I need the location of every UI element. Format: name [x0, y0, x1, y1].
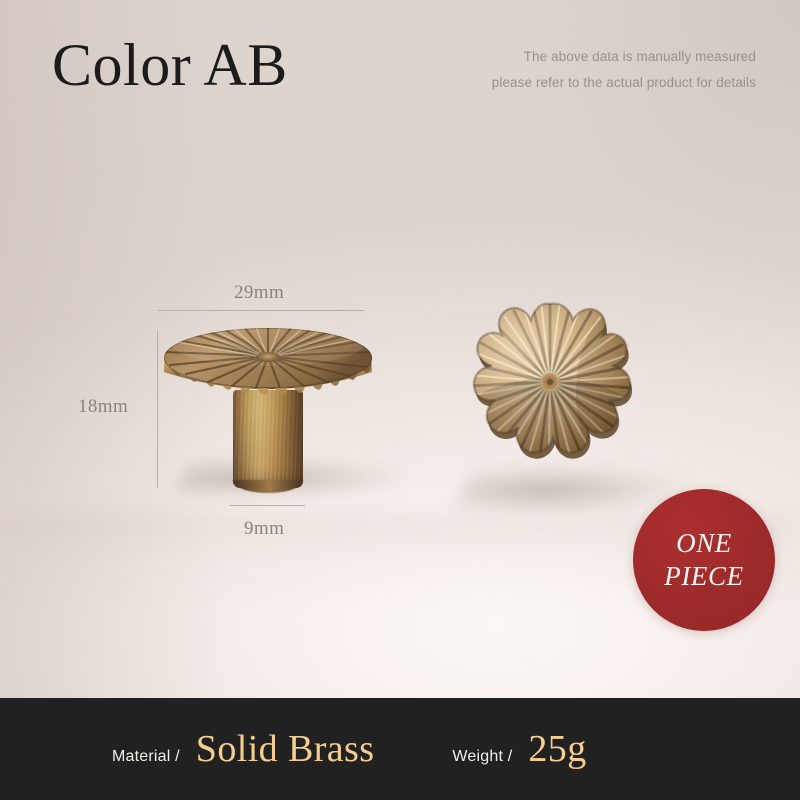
spec-weight: Weight / 25g	[452, 727, 586, 771]
knob-side-center-hub	[256, 352, 280, 362]
height-guide-line	[157, 330, 158, 488]
knob-side-flange	[160, 312, 376, 404]
disclaimer-line-2: please refer to the actual product for d…	[426, 70, 756, 96]
knob-face-center-dot	[547, 379, 553, 385]
one-piece-badge: ONE PIECE	[633, 489, 775, 631]
product-image: Color AB The above data is manually meas…	[0, 0, 800, 800]
disclaimer-line-1: The above data is manually measured	[426, 44, 756, 70]
page-title: Color AB	[52, 34, 288, 97]
weight-label: Weight /	[452, 748, 512, 766]
weight-value: 25g	[528, 727, 586, 771]
material-label: Material /	[112, 748, 180, 766]
spec-bar: Material / Solid Brass Weight / 25g	[0, 698, 800, 800]
spec-material: Material / Solid Brass	[112, 727, 374, 771]
depth-dimension-label: 9mm	[244, 518, 284, 540]
badge-line-1: ONE	[676, 527, 732, 560]
knob-side-stem	[233, 390, 303, 488]
badge-line-2: PIECE	[664, 560, 743, 593]
material-value: Solid Brass	[196, 727, 375, 771]
width-dimension-label: 29mm	[234, 282, 284, 304]
width-guide-line	[158, 310, 364, 311]
knob-side-view	[160, 312, 376, 494]
knob-face-shadow	[454, 468, 690, 512]
height-dimension-label: 18mm	[78, 396, 128, 418]
disclaimer-note: The above data is manually measured plea…	[426, 44, 756, 96]
depth-guide-line	[230, 505, 305, 506]
knob-face-view	[444, 298, 656, 510]
